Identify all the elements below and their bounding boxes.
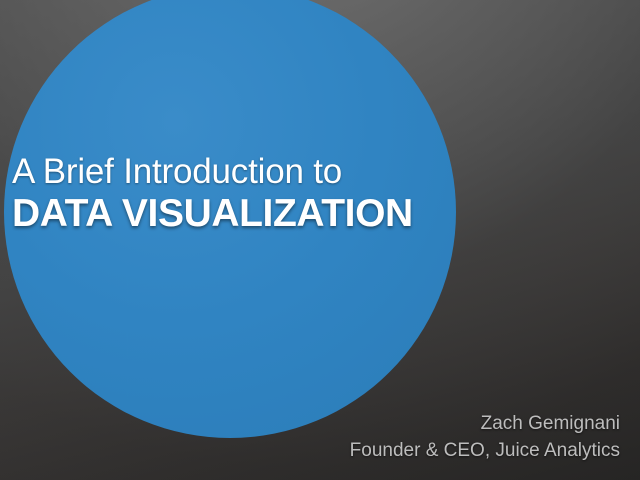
slide-attribution: Zach Gemignani Founder & CEO, Juice Anal… [350, 410, 620, 464]
slide-subtitle: A Brief Introduction to [12, 152, 512, 192]
presentation-slide: A Brief Introduction to DATA VISUALIZATI… [0, 0, 640, 480]
slide-title: DATA VISUALIZATION [12, 192, 512, 236]
presenter-role: Founder & CEO, Juice Analytics [350, 437, 620, 464]
slide-title-block: A Brief Introduction to DATA VISUALIZATI… [12, 152, 512, 236]
presenter-name: Zach Gemignani [350, 410, 620, 437]
